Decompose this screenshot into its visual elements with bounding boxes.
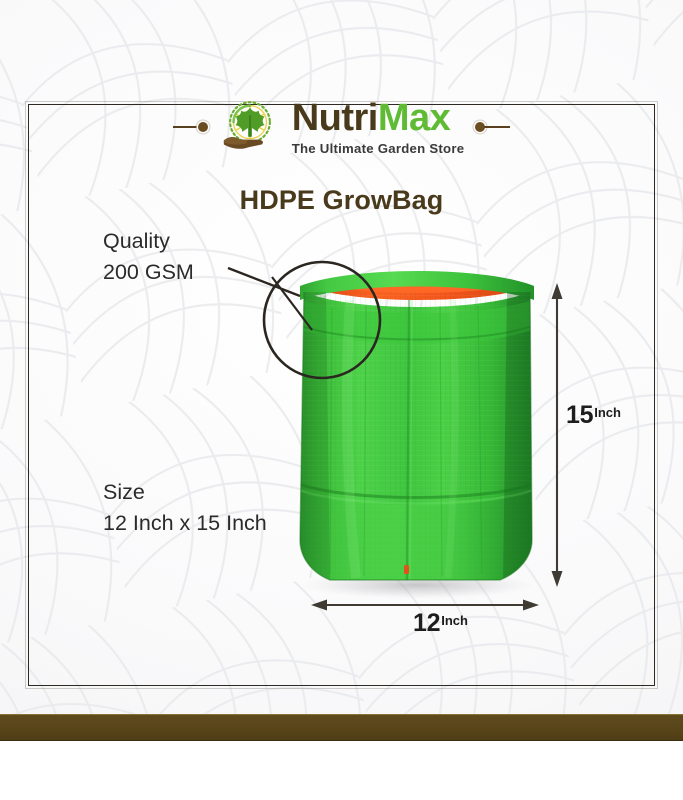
quality-callout: Quality 200 GSM	[103, 226, 194, 287]
page-title: HDPE GrowBag	[0, 185, 683, 216]
quality-callout-line1: Quality	[103, 226, 194, 257]
width-dimension-value: 12	[413, 609, 440, 637]
quality-callout-line2: 200 GSM	[103, 257, 194, 288]
bottom-accent-bar	[0, 714, 683, 741]
height-dimension-value: 15	[566, 401, 593, 429]
brand-logo: NutriMax The Ultimate Garden Store	[0, 96, 683, 158]
product-poster: NutriMax The Ultimate Garden Store HDPE …	[0, 0, 683, 800]
leaf-in-hand-icon	[219, 96, 281, 158]
width-dimension-unit: Inch	[441, 613, 468, 628]
height-dimension-label: 15Inch	[566, 401, 621, 430]
size-callout-line1: Size	[103, 477, 267, 508]
decor-dot-left	[173, 122, 208, 132]
brand-wordmark: NutriMax	[292, 99, 465, 137]
brand-wordmark-part2: Max	[378, 97, 450, 139]
decor-dot-right	[475, 122, 510, 132]
size-callout: Size 12 Inch x 15 Inch	[103, 477, 267, 538]
size-callout-line2: 12 Inch x 15 Inch	[103, 508, 267, 539]
brand-wordmark-part1: Nutri	[292, 97, 378, 139]
bottom-white-strip	[0, 741, 683, 800]
brand-tagline: The Ultimate Garden Store	[292, 142, 465, 155]
height-dimension-unit: Inch	[594, 405, 621, 420]
width-dimension-label: 12Inch	[413, 609, 468, 638]
